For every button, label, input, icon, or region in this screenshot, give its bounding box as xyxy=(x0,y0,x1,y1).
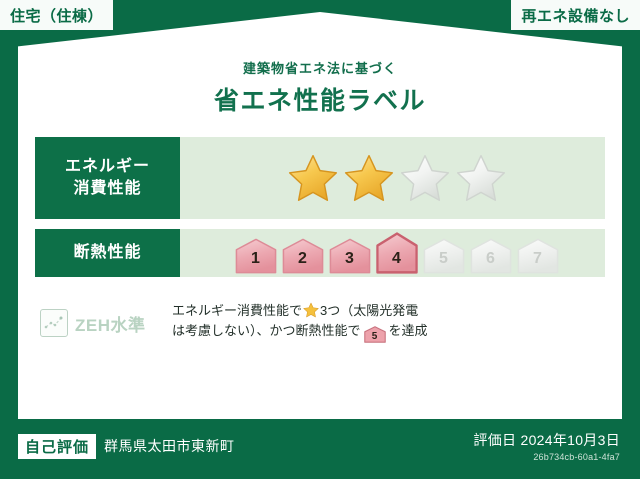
zeh-text-part3: を達成 xyxy=(389,323,428,338)
house-level-label: 7 xyxy=(533,251,542,274)
house-level-label: 1 xyxy=(251,251,260,274)
badge-building-type: 住宅（住棟） xyxy=(0,0,113,30)
zeh-chart-icon xyxy=(40,309,68,337)
metric-value-energy xyxy=(180,137,605,219)
zeh-section: ZEH水準 エネルギー消費性能で 3つ（太陽光発電 は考慮しない）、かつ断熱性能… xyxy=(18,287,622,343)
metrics-list: エネルギー 消費性能 断熱性能 1234567 xyxy=(18,137,622,277)
page-title: 省エネ性能ラベル xyxy=(18,81,622,117)
footer: 自己評価 群馬県太田市東新町 評価日 2024年10月3日 26b734cb-6… xyxy=(0,419,640,479)
house-level-6: 6 xyxy=(470,238,512,274)
inline-house-icon: 5 xyxy=(364,326,386,343)
star-icon-empty xyxy=(399,153,451,203)
star-icon-empty xyxy=(455,153,507,203)
house-level-3: 3 xyxy=(329,238,371,274)
inline-star-icon xyxy=(303,302,319,318)
star-icon-filled xyxy=(343,153,395,203)
zeh-star-count: 3つ（太陽光発電 xyxy=(320,303,418,318)
evaluation-date: 評価日 2024年10月3日 xyxy=(473,430,620,450)
metric-label-energy-line2: 消費性能 xyxy=(73,178,141,200)
metric-label-insulation-text: 断熱性能 xyxy=(73,242,141,264)
house-level-label: 2 xyxy=(298,251,307,274)
zeh-text-part1: エネルギー消費性能で xyxy=(172,303,302,318)
energy-label-root: 住宅（住棟） 再エネ設備なし 建築物省エネ法に基づく 省エネ性能ラベル エネルギ… xyxy=(0,0,640,479)
house-level-label: 5 xyxy=(439,251,448,274)
status-badge-self-assessment: 自己評価 xyxy=(18,434,96,459)
metric-label-insulation: 断熱性能 xyxy=(35,229,180,277)
house-level-5: 5 xyxy=(423,238,465,274)
metric-row-insulation: 断熱性能 1234567 xyxy=(35,229,605,277)
zeh-text-part2: は考慮しない）、かつ断熱性能で xyxy=(172,323,361,338)
property-address: 群馬県太田市東新町 xyxy=(104,436,235,456)
metric-row-energy: エネルギー 消費性能 xyxy=(35,137,605,219)
metric-label-energy: エネルギー 消費性能 xyxy=(35,137,180,219)
house-level-7: 7 xyxy=(517,238,559,274)
star-rating xyxy=(287,153,507,203)
metric-label-energy-line1: エネルギー xyxy=(65,156,150,178)
house-level-1: 1 xyxy=(235,238,277,274)
title-subtitle: 建築物省エネ法に基づく xyxy=(18,48,622,77)
house-level-label: 6 xyxy=(486,251,495,274)
metric-value-insulation: 1234567 xyxy=(180,229,605,277)
house-level-label: 4 xyxy=(392,251,401,274)
badge-renewable-equipment: 再エネ設備なし xyxy=(511,0,640,30)
inline-house-level: 5 xyxy=(364,326,386,347)
house-level-4: 4 xyxy=(376,232,418,274)
zeh-name-label: ZEH水準 xyxy=(75,311,146,336)
star-icon-filled xyxy=(287,153,339,203)
zeh-label-group: ZEH水準 xyxy=(40,301,162,337)
footer-right-group: 評価日 2024年10月3日 26b734cb-60a1-4fa7 xyxy=(473,430,620,462)
footer-left-group: 自己評価 群馬県太田市東新町 xyxy=(18,434,235,459)
evaluation-id: 26b734cb-60a1-4fa7 xyxy=(473,452,620,462)
house-rating: 1234567 xyxy=(235,232,559,274)
zeh-description: エネルギー消費性能で 3つ（太陽光発電 は考慮しない）、かつ断熱性能で 5を達成 xyxy=(172,301,602,343)
house-level-2: 2 xyxy=(282,238,324,274)
house-level-label: 3 xyxy=(345,251,354,274)
main-panel: 建築物省エネ法に基づく 省エネ性能ラベル エネルギー 消費性能 断熱性能 123… xyxy=(18,48,622,419)
